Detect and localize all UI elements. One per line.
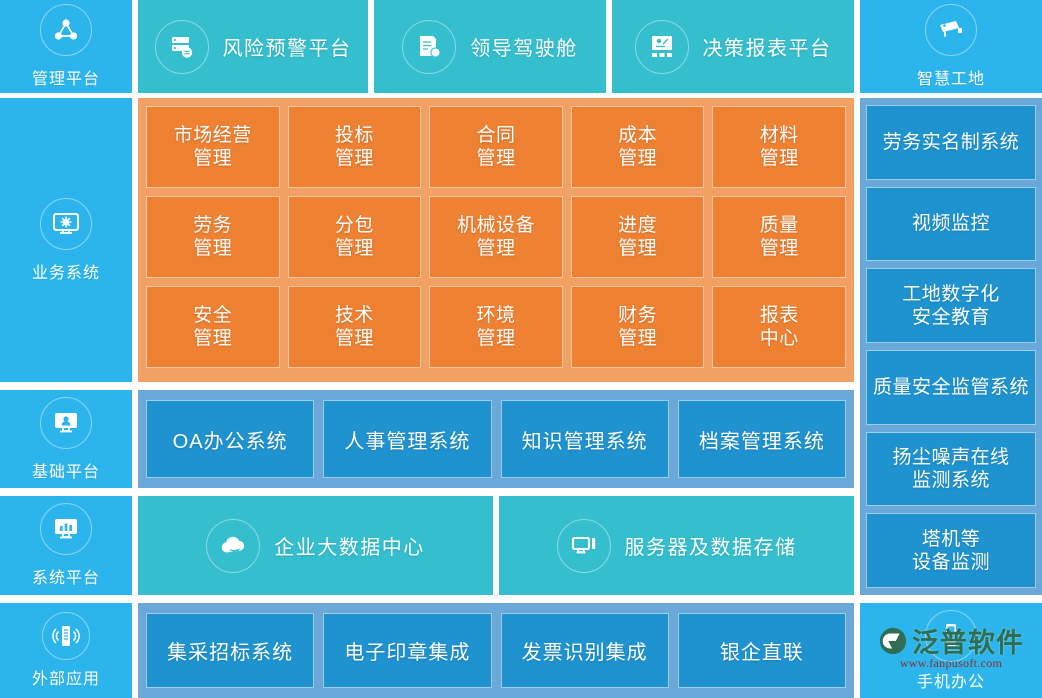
card-label: 风险预警平台 (223, 32, 352, 61)
business-tile[interactable]: 合同 管理 (429, 106, 563, 188)
monitor-gear-icon (40, 198, 92, 250)
document-report-icon (402, 20, 456, 74)
server-stack-icon (155, 20, 209, 74)
business-tile[interactable]: 质量 管理 (712, 196, 846, 278)
business-system-grid: 市场经营 管理 投标 管理 合同 管理 成本 管理 材料 管理 劳务 管理 分包… (138, 98, 854, 382)
business-tile[interactable]: 材料 管理 (712, 106, 846, 188)
card-leader-cockpit[interactable]: 领导驾驶舱 (374, 0, 606, 93)
card-server-data-storage[interactable]: 服务器及数据存储 (499, 496, 854, 595)
rail-label: 外部应用 (32, 665, 100, 689)
cloud-icon (206, 519, 260, 573)
card-mobile-office[interactable]: 手机办公 泛普软件 www.fanpusoft.com (860, 603, 1042, 698)
monitor-person-icon (40, 397, 92, 449)
rail-label: 系统平台 (32, 564, 100, 588)
rail-smart-site[interactable]: 智慧工地 (860, 0, 1042, 93)
rail-label: 基础平台 (32, 458, 100, 482)
smartphone-icon (925, 610, 977, 662)
fanpu-logo-icon (878, 626, 908, 656)
external-app-tile[interactable]: 集采招标系统 (146, 613, 314, 688)
rail-label: 管理平台 (32, 65, 100, 89)
card-risk-warning-platform[interactable]: 风险预警平台 (138, 0, 368, 93)
smart-site-tile-column: 劳务实名制系统 视频监控 工地数字化 安全教育 质量安全监管系统 扬尘噪声在线 … (860, 98, 1042, 595)
external-app-tile[interactable]: 电子印章集成 (323, 613, 491, 688)
card-label: 企业大数据中心 (274, 531, 425, 560)
rail-system-platform[interactable]: 系统平台 (0, 496, 132, 595)
rail-management-platform[interactable]: 管理平台 (0, 0, 132, 93)
rail-label: 业务系统 (32, 259, 100, 283)
business-tile[interactable]: 市场经营 管理 (146, 106, 280, 188)
rail-external-apps[interactable]: 外部应用 (0, 603, 132, 698)
card-label: 领导驾驶舱 (470, 32, 578, 61)
architecture-diagram: 管理平台 风险预警平台 领导驾驶舱 (0, 0, 1042, 698)
business-tile[interactable]: 成本 管理 (571, 106, 705, 188)
basic-platform-tile[interactable]: OA办公系统 (146, 400, 314, 478)
rail-basic-platform[interactable]: 基础平台 (0, 390, 132, 488)
business-tile[interactable]: 环境 管理 (429, 286, 563, 368)
smart-site-tile[interactable]: 工地数字化 安全教育 (866, 268, 1036, 343)
business-tile[interactable]: 分包 管理 (288, 196, 422, 278)
external-app-tile[interactable]: 银企直联 (678, 613, 846, 688)
card-label: 决策报表平台 (703, 32, 832, 61)
business-tile[interactable]: 劳务 管理 (146, 196, 280, 278)
business-tile[interactable]: 机械设备 管理 (429, 196, 563, 278)
business-tile[interactable]: 报表 中心 (712, 286, 846, 368)
business-tile[interactable]: 技术 管理 (288, 286, 422, 368)
basic-platform-tile[interactable]: 知识管理系统 (501, 400, 669, 478)
smart-site-tile[interactable]: 扬尘噪声在线 监测系统 (866, 432, 1036, 507)
basic-platform-tile[interactable]: 档案管理系统 (678, 400, 846, 478)
business-tile[interactable]: 安全 管理 (146, 286, 280, 368)
business-tile-grid: 市场经营 管理 投标 管理 合同 管理 成本 管理 材料 管理 劳务 管理 分包… (146, 106, 846, 368)
server-monitor-icon (557, 519, 611, 573)
rfid-signal-icon (42, 612, 90, 660)
business-tile[interactable]: 进度 管理 (571, 196, 705, 278)
network-nodes-icon (40, 4, 92, 56)
card-enterprise-bigdata-center[interactable]: 企业大数据中心 (138, 496, 493, 595)
smart-site-tile[interactable]: 质量安全监管系统 (866, 350, 1036, 425)
business-tile[interactable]: 投标 管理 (288, 106, 422, 188)
smart-site-tile[interactable]: 塔机等 设备监测 (866, 513, 1036, 588)
external-apps-strip: 集采招标系统 电子印章集成 发票识别集成 银企直联 (138, 603, 854, 698)
card-decision-report-platform[interactable]: 决策报表平台 (612, 0, 854, 93)
business-tile[interactable]: 财务 管理 (571, 286, 705, 368)
smart-site-tile[interactable]: 视频监控 (866, 187, 1036, 262)
presentation-board-icon (635, 20, 689, 74)
basic-platform-strip: OA办公系统 人事管理系统 知识管理系统 档案管理系统 (138, 390, 854, 488)
basic-platform-tile[interactable]: 人事管理系统 (323, 400, 491, 478)
rail-label: 智慧工地 (917, 65, 985, 89)
card-label: 服务器及数据存储 (625, 531, 797, 560)
external-app-tile[interactable]: 发票识别集成 (501, 613, 669, 688)
smart-site-tile[interactable]: 劳务实名制系统 (866, 105, 1036, 180)
rail-business-system[interactable]: 业务系统 (0, 98, 132, 382)
monitor-chart-icon (40, 503, 92, 555)
card-label: 手机办公 (917, 668, 985, 692)
cctv-camera-icon (925, 4, 977, 56)
